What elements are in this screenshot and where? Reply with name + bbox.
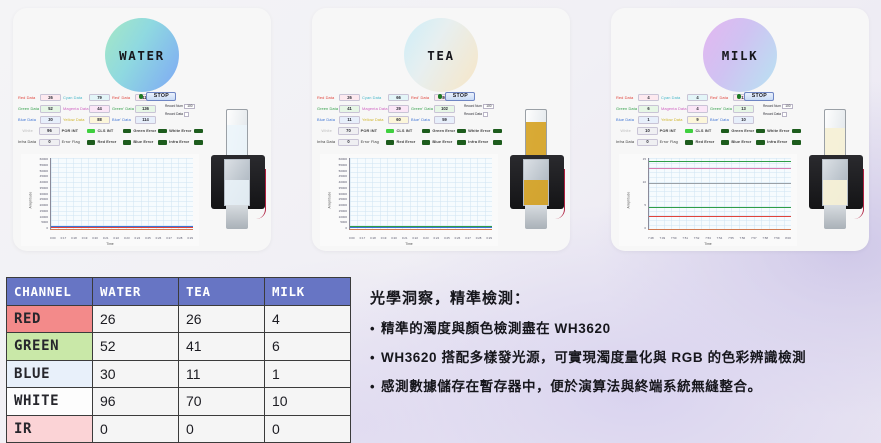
xtick-11: 0:27 (465, 236, 471, 240)
panel-controls: STOP (734, 92, 774, 101)
label-error-flag: Error Flag (62, 140, 85, 144)
device-window-liquid (823, 180, 847, 205)
ytick-0: 15 (643, 158, 646, 161)
cell-ir-tea: 0 (179, 415, 265, 443)
label-magenta-data: Magenta Data (362, 107, 386, 111)
field-blue-data[interactable]: 1 (638, 116, 659, 124)
xtick-11: 0:27 (166, 236, 172, 240)
xtick-10: 0:26 (156, 236, 162, 240)
ytick-9: 15000 (40, 210, 48, 213)
xtick-4: 7:52 (694, 236, 700, 240)
label-infra-data: Infra Data (18, 140, 37, 144)
label-cls-int: CLS INT (695, 129, 718, 133)
xtick-7: 0:23 (124, 236, 130, 240)
xtick-1: 0:17 (61, 236, 67, 240)
field-infra-data[interactable]: 0 (338, 139, 358, 147)
label-white-error: White Error (169, 129, 192, 133)
label-infra-error: Infra Error (169, 140, 192, 144)
chart-xlabel-tea: Time (320, 242, 498, 246)
field-white[interactable]: 10 (637, 127, 657, 135)
label-blue-data: Blue Data (18, 118, 38, 122)
chart-xticks-milk: 7:487:497:507:517:527:537:547:557:567:57… (648, 236, 791, 240)
field-blue'-data[interactable]: 114 (135, 116, 156, 124)
label-infra-error: Infra Error (767, 140, 790, 144)
indicator-green-error (158, 129, 167, 134)
panel-controls: STOP (136, 92, 176, 101)
xtick-11: 7:59 (774, 236, 780, 240)
field-blue'-data[interactable]: 10 (733, 116, 754, 124)
status-led (438, 94, 442, 98)
field-blue-data[interactable]: 30 (40, 116, 61, 124)
xtick-5: 7:53 (705, 236, 711, 240)
ytick-3: 45000 (339, 175, 347, 178)
chart-xticks-tea: 0:000:170:180:190:200:210:220:230:240:25… (349, 236, 492, 240)
chart-plot-milk (648, 158, 791, 230)
device-window (822, 159, 848, 206)
field-blue'-data[interactable]: 59 (434, 116, 455, 124)
ytick-8: 20000 (40, 204, 48, 207)
ytick-4: 40000 (339, 181, 347, 184)
indicator-infra-error (493, 140, 502, 145)
table-header-water: WATER (93, 278, 179, 306)
series-grey (649, 183, 791, 184)
stop-button[interactable]: STOP (445, 92, 475, 101)
field-red-data[interactable]: 26 (339, 94, 360, 102)
card-tea: TEARed Data26Cyan Data66Red' Data86Green… (312, 8, 570, 251)
copy-bullet-3: •感測數據儲存在暫存器中，便於演算法與終端系統無縫整合。 (370, 379, 875, 395)
cell-white-milk: 10 (265, 388, 351, 416)
ytick-3: 10 (643, 181, 646, 184)
cell-white-water: 96 (93, 388, 179, 416)
copy-bullet-1: •精準的濁度與顏色檢測盡在 WH3620 (370, 321, 875, 337)
chart-xticks-water: 0:000:170:180:190:200:210:220:230:240:25… (50, 236, 193, 240)
xtick-2: 0:18 (370, 236, 376, 240)
checkbox-record-data[interactable] (184, 112, 188, 116)
series-magenta (649, 168, 791, 169)
label-infra-error: Infra Error (468, 140, 491, 144)
table-header-channel: CHANNEL (7, 278, 93, 306)
cell-green-tea: 41 (179, 333, 265, 361)
xtick-10: 0:26 (455, 236, 461, 240)
chart-xlabel-milk: Time (619, 242, 797, 246)
label-record-data: Record Data (763, 113, 781, 116)
field-record-num[interactable]: 100 (782, 104, 793, 109)
device-foot (525, 205, 547, 229)
label-red-error: Red Error (695, 140, 718, 144)
xtick-1: 7:49 (659, 236, 665, 240)
label-yellow-data: Yellow Data (661, 118, 685, 122)
ytick-6: 30000 (40, 193, 48, 196)
xtick-5: 0:21 (402, 236, 408, 240)
ytick-3: 45000 (40, 175, 48, 178)
cell-ir-water: 0 (93, 415, 179, 443)
xtick-13: 0:29 (486, 236, 492, 240)
label-blue-data: Blue Data (317, 118, 337, 122)
badge-label-tea: TEA (427, 48, 454, 63)
xtick-9: 0:25 (145, 236, 151, 240)
record-num-line: Record Num100 (165, 104, 195, 109)
label-white-error: White Error (767, 129, 790, 133)
ytick-4: 40000 (40, 181, 48, 184)
field-green-data[interactable]: 41 (339, 105, 360, 113)
badge-tea: TEA (404, 18, 478, 92)
table-header-row: CHANNEL WATER TEA MILK (7, 278, 351, 306)
cell-channel-red: RED (7, 305, 93, 333)
xtick-4: 0:20 (391, 236, 397, 240)
badge-water: WATER (105, 18, 179, 92)
cell-channel-blue: BLUE (7, 360, 93, 388)
label-white: White (616, 129, 635, 133)
chart-yticks-milk: 151050 (626, 158, 646, 230)
label-cls-int: CLS INT (97, 129, 120, 133)
field-magenta-data[interactable]: 29 (388, 105, 409, 113)
field-green'-data[interactable]: 13 (733, 105, 754, 113)
label-white: White (18, 129, 37, 133)
ytick-5: 35000 (339, 187, 347, 190)
series-cyan-hi (649, 161, 791, 162)
ytick-11: 5000 (340, 221, 347, 224)
indicator-white-error (792, 129, 801, 134)
channel-table: CHANNEL WATER TEA MILK RED26264GREEN5241… (6, 277, 351, 443)
label-white: White (317, 129, 336, 133)
card-milk: MILKRed Data4Cyan Data4Red' Data13Green … (611, 8, 869, 251)
indicator-cls-int (123, 129, 132, 134)
label-green-error: Green Error (133, 129, 156, 133)
field-yellow-data[interactable]: 60 (388, 116, 409, 124)
xtick-3: 0:19 (82, 236, 88, 240)
indicator-cls-int (422, 129, 431, 134)
cell-channel-green: GREEN (7, 333, 93, 361)
device-wire (555, 169, 565, 219)
control-panel-water: Red Data26Cyan Data79Red' Data119Green D… (18, 92, 203, 148)
field-record-num[interactable]: 100 (184, 104, 195, 109)
label-cyan-data: Cyan Data (362, 96, 386, 100)
indicator-red-error (721, 140, 730, 145)
cell-channel-ir: IR (7, 415, 93, 443)
channel-table-zone: CHANNEL WATER TEA MILK RED26264GREEN5241… (6, 277, 351, 443)
label-magenta-data: Magenta Data (661, 107, 685, 111)
record-data-line: Record Data (464, 112, 494, 116)
indicator-por-int (386, 129, 395, 134)
field-green'-data[interactable]: 136 (135, 105, 156, 113)
chart-plot-water (50, 158, 193, 230)
xtick-7: 0:23 (423, 236, 429, 240)
status-led (139, 94, 143, 98)
field-cyan-data[interactable]: 79 (89, 94, 110, 102)
table-header-milk: MILK (265, 278, 351, 306)
indicator-green-error (457, 129, 466, 134)
indicator-white-error (194, 129, 203, 134)
record-data-line: Record Data (165, 112, 195, 116)
device-wire (256, 169, 266, 219)
table-header-tea: TEA (179, 278, 265, 306)
cell-ir-milk: 0 (265, 415, 351, 443)
label-green-error: Green Error (432, 129, 455, 133)
label-blue-data: Blue Data (616, 118, 636, 122)
checkbox-record-data[interactable] (782, 112, 786, 116)
ytick-7: 25000 (339, 198, 347, 201)
marketing-copy-zone: 光學洞察，精準檢測： •精準的濁度與顏色檢測盡在 WH3620•WH3620 搭… (370, 287, 875, 409)
field-infra-data[interactable]: 0 (637, 139, 657, 147)
cell-red-water: 26 (93, 305, 179, 333)
indicator-por-int (87, 129, 96, 134)
label-green-data: Green Data (616, 107, 636, 111)
ytick-8: 20000 (339, 204, 347, 207)
table-row: WHITE967010 (7, 388, 351, 416)
label-cyan-data: Cyan Data (63, 96, 87, 100)
cell-green-water: 52 (93, 333, 179, 361)
device-photo-water (209, 109, 267, 229)
ytick-10: 10000 (339, 216, 347, 219)
indicator-infra-error (194, 140, 203, 145)
device-foot (226, 205, 248, 229)
xtick-8: 0:24 (434, 236, 440, 240)
field-green-data[interactable]: 52 (40, 105, 61, 113)
xtick-3: 0:19 (381, 236, 387, 240)
stop-button[interactable]: STOP (146, 92, 176, 101)
field-blue-data[interactable]: 11 (339, 116, 360, 124)
label-blue'-data: Blue' Data (112, 118, 133, 122)
cell-blue-tea: 11 (179, 360, 265, 388)
xtick-2: 0:18 (71, 236, 77, 240)
ytick-6: 30000 (339, 193, 347, 196)
record-controls: Record Num100Record Data (763, 104, 793, 120)
xtick-12: 0:28 (476, 236, 482, 240)
field-cyan-data[interactable]: 4 (687, 94, 708, 102)
field-green'-data[interactable]: 102 (434, 105, 455, 113)
record-num-line: Record Num100 (763, 104, 793, 109)
field-green-data[interactable]: 6 (638, 105, 659, 113)
table-row: GREEN52416 (7, 333, 351, 361)
bullet-glyph: • (370, 379, 381, 395)
label-blue-error: Blue Error (731, 140, 754, 144)
field-magenta-data[interactable]: 44 (89, 105, 110, 113)
xtick-0: 7:48 (648, 236, 654, 240)
label-infra-data: Infra Data (317, 140, 336, 144)
label-error-flag: Error Flag (361, 140, 384, 144)
table-row: RED26264 (7, 305, 351, 333)
control-panel-tea: Red Data26Cyan Data66Red' Data86Green Da… (317, 92, 502, 148)
cell-red-milk: 4 (265, 305, 351, 333)
field-record-num[interactable]: 100 (483, 104, 494, 109)
cell-green-milk: 6 (265, 333, 351, 361)
field-white[interactable]: 70 (338, 127, 358, 135)
ytick-2: 50000 (40, 170, 48, 173)
panel-row-white: White70POR INTCLS INTGreen ErrorWhite Er… (317, 126, 502, 137)
ytick-0: 60000 (40, 158, 48, 161)
panel-row-infra: Infra Data0Error FlagRed ErrorBlue Error… (616, 137, 801, 148)
ytick-12: 0 (46, 227, 48, 230)
chart-milk: AmplitudeTime1510507:487:497:507:517:527… (619, 154, 797, 246)
label-record-data: Record Data (165, 113, 183, 116)
xtick-2: 7:50 (671, 236, 677, 240)
field-cyan-data[interactable]: 66 (388, 94, 409, 102)
indicator-error-flag (87, 140, 96, 145)
indicator-error-flag (685, 140, 694, 145)
instrument-cards-row: WATERRed Data26Cyan Data79Red' Data119Gr… (13, 8, 869, 251)
xtick-12: 8:00 (785, 236, 791, 240)
indicator-blue-error (158, 140, 167, 145)
checkbox-record-data[interactable] (483, 112, 487, 116)
ytick-1: 55000 (339, 164, 347, 167)
field-infra-data[interactable]: 0 (39, 139, 59, 147)
indicator-blue-error (457, 140, 466, 145)
label-red-data: Red Data (616, 96, 636, 100)
indicator-infra-error (792, 140, 801, 145)
panel-row-white: White10POR INTCLS INTGreen ErrorWhite Er… (616, 126, 801, 137)
indicator-por-int (685, 129, 694, 134)
xtick-6: 0:22 (113, 236, 119, 240)
ytick-9: 0 (644, 227, 646, 230)
chart-plot-tea (349, 158, 492, 230)
label-green-error: Green Error (731, 129, 754, 133)
label-record-data: Record Data (464, 113, 482, 116)
cell-channel-white: WHITE (7, 388, 93, 416)
record-controls: Record Num100Record Data (464, 104, 494, 120)
cell-blue-milk: 1 (265, 360, 351, 388)
label-white-error: White Error (468, 129, 491, 133)
indicator-red-error (123, 140, 132, 145)
ytick-6: 5 (644, 204, 646, 207)
copy-bullet-text-2: WH3620 搭配多樣發光源，可實現濁度量化與 RGB 的色彩辨識檢測 (381, 350, 806, 366)
xtick-8: 0:24 (135, 236, 141, 240)
record-num-line: Record Num100 (464, 104, 494, 109)
label-yellow-data: Yellow Data (63, 118, 87, 122)
label-red-error: Red Error (396, 140, 419, 144)
card-water: WATERRed Data26Cyan Data79Red' Data119Gr… (13, 8, 271, 251)
table-row: IR000 (7, 415, 351, 443)
cell-white-tea: 70 (179, 388, 265, 416)
label-record-num: Record Num (165, 105, 183, 108)
control-panel-milk: Red Data4Cyan Data4Red' Data13Green Data… (616, 92, 801, 148)
xtick-13: 0:29 (187, 236, 193, 240)
panel-row-infra: Infra Data0Error FlagRed ErrorBlue Error… (317, 137, 502, 148)
label-red'-data: Red' Data (710, 96, 731, 100)
table-row: BLUE30111 (7, 360, 351, 388)
indicator-green-error (756, 129, 765, 134)
label-green'-data: Green' Data (411, 107, 432, 111)
device-window (523, 159, 549, 206)
label-infra-data: Infra Data (616, 140, 635, 144)
label-magenta-data: Magenta Data (63, 107, 87, 111)
xtick-12: 0:28 (177, 236, 183, 240)
indicator-red-error (422, 140, 431, 145)
xtick-1: 0:17 (360, 236, 366, 240)
device-window-liquid (524, 180, 548, 205)
xtick-10: 7:58 (762, 236, 768, 240)
record-controls: Record Num100Record Data (165, 104, 195, 120)
xtick-0: 0:00 (50, 236, 56, 240)
xtick-4: 0:20 (92, 236, 98, 240)
badge-label-milk: MILK (722, 48, 759, 63)
device-window (224, 159, 250, 206)
series-red (649, 216, 791, 217)
ytick-10: 10000 (40, 216, 48, 219)
xtick-8: 7:56 (740, 236, 746, 240)
field-yellow-data[interactable]: 9 (687, 116, 708, 124)
xtick-9: 0:25 (444, 236, 450, 240)
series-blue (350, 227, 492, 228)
device-foot (824, 205, 846, 229)
ytick-7: 25000 (40, 198, 48, 201)
panel-controls: STOP (435, 92, 475, 101)
stop-button[interactable]: STOP (744, 92, 774, 101)
device-window-liquid (225, 180, 249, 205)
indicator-white-error (493, 129, 502, 134)
field-red-data[interactable]: 4 (638, 94, 659, 102)
label-error-flag: Error Flag (660, 140, 683, 144)
status-led (737, 94, 741, 98)
chart-yticks-tea: 6000055000500004500040000350003000025000… (327, 158, 347, 230)
label-green'-data: Green' Data (112, 107, 133, 111)
label-red'-data: Red' Data (112, 96, 133, 100)
badge-milk: MILK (703, 18, 777, 92)
ytick-1: 55000 (40, 164, 48, 167)
label-blue'-data: Blue' Data (710, 118, 731, 122)
field-magenta-data[interactable]: 4 (687, 105, 708, 113)
badge-label-water: WATER (119, 48, 165, 63)
series-blue (51, 226, 193, 227)
indicator-blue-error (756, 140, 765, 145)
label-blue'-data: Blue' Data (411, 118, 432, 122)
label-red-data: Red Data (18, 96, 38, 100)
copy-bullet-text-1: 精準的濁度與顏色檢測盡在 WH3620 (381, 321, 611, 337)
label-red'-data: Red' Data (411, 96, 432, 100)
label-por-int: POR INT (361, 129, 384, 133)
label-green-data: Green Data (317, 107, 337, 111)
label-por-int: POR INT (660, 129, 683, 133)
cell-red-tea: 26 (179, 305, 265, 333)
label-record-num: Record Num (464, 105, 482, 108)
xtick-5: 0:21 (103, 236, 109, 240)
device-wire (854, 169, 864, 219)
ytick-9: 15000 (339, 210, 347, 213)
label-blue-error: Blue Error (133, 140, 156, 144)
label-green-data: Green Data (18, 107, 38, 111)
field-red-data[interactable]: 26 (40, 94, 61, 102)
indicator-cls-int (721, 129, 730, 134)
panel-row-infra: Infra Data0Error FlagRed ErrorBlue Error… (18, 137, 203, 148)
ytick-12: 0 (345, 227, 347, 230)
label-red-error: Red Error (97, 140, 120, 144)
chart-tea: AmplitudeTime600005500050000450004000035… (320, 154, 498, 246)
copy-bullet-2: •WH3620 搭配多樣發光源，可實現濁度量化與 RGB 的色彩辨識檢測 (370, 350, 875, 366)
device-photo-tea (508, 109, 566, 229)
record-data-line: Record Data (763, 112, 793, 116)
copy-heading: 光學洞察，精準檢測： (370, 287, 875, 308)
ytick-2: 50000 (339, 170, 347, 173)
label-red-data: Red Data (317, 96, 337, 100)
xtick-3: 7:51 (682, 236, 688, 240)
field-white[interactable]: 96 (39, 127, 59, 135)
label-yellow-data: Yellow Data (362, 118, 386, 122)
chart-xlabel-water: Time (21, 242, 199, 246)
xtick-6: 7:54 (717, 236, 723, 240)
panel-row-white: White96POR INTCLS INTGreen ErrorWhite Er… (18, 126, 203, 137)
ytick-11: 5000 (41, 221, 48, 224)
bullet-glyph: • (370, 321, 381, 337)
field-yellow-data[interactable]: 88 (89, 116, 110, 124)
ytick-5: 35000 (40, 187, 48, 190)
chart-water: AmplitudeTime600005500050000450004000035… (21, 154, 199, 246)
label-cls-int: CLS INT (396, 129, 419, 133)
ytick-0: 60000 (339, 158, 347, 161)
copy-bullet-text-3: 感測數據儲存在暫存器中，便於演算法與終端系統無縫整合。 (381, 379, 762, 395)
xtick-7: 7:55 (728, 236, 734, 240)
label-cyan-data: Cyan Data (661, 96, 685, 100)
series-green (649, 207, 791, 208)
xtick-6: 0:22 (412, 236, 418, 240)
